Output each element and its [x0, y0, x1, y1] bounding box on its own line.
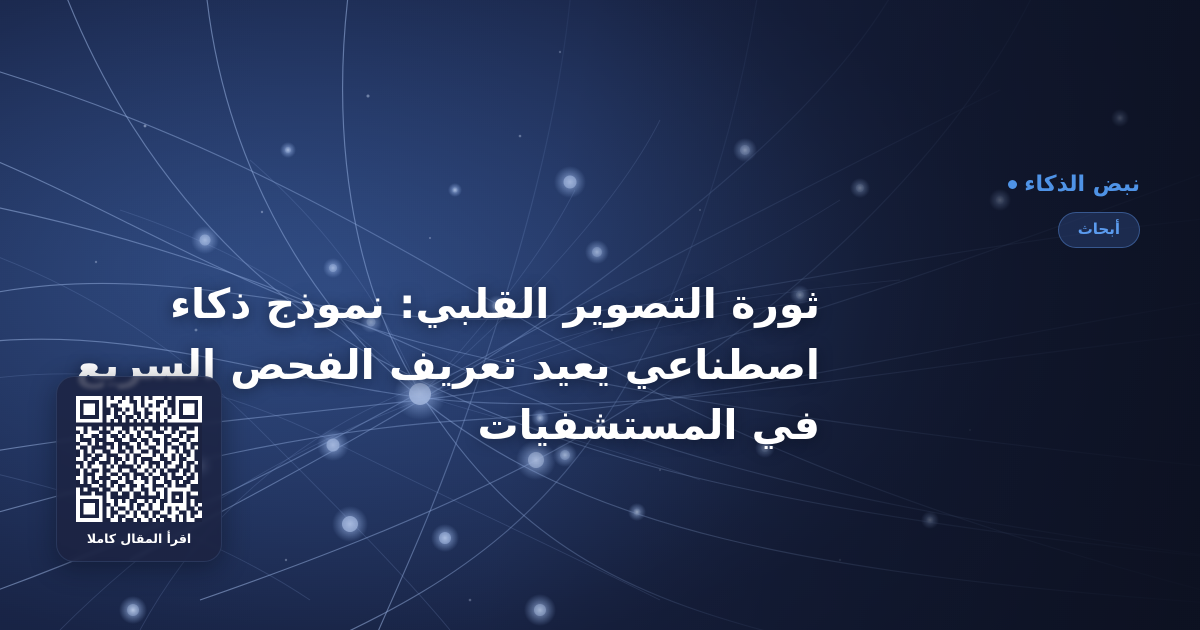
brand-lockup: نبض الذكاء: [1008, 174, 1140, 196]
category-badge[interactable]: أبحاث: [1058, 212, 1140, 248]
og-image-card: نبض الذكاء أبحاث ثورة التصوير القلبي: نم…: [0, 0, 1200, 630]
qr-code-icon: [76, 396, 202, 522]
qr-card[interactable]: اقرأ المقال كاملا: [56, 376, 222, 562]
brand-name: نبض الذكاء: [1024, 174, 1140, 196]
qr-caption: اقرأ المقال كاملا: [87, 533, 191, 546]
bullet-dot-icon: [1008, 180, 1017, 189]
content-column: نبض الذكاء أبحاث ثورة التصوير القلبي: نم…: [60, 0, 1200, 630]
